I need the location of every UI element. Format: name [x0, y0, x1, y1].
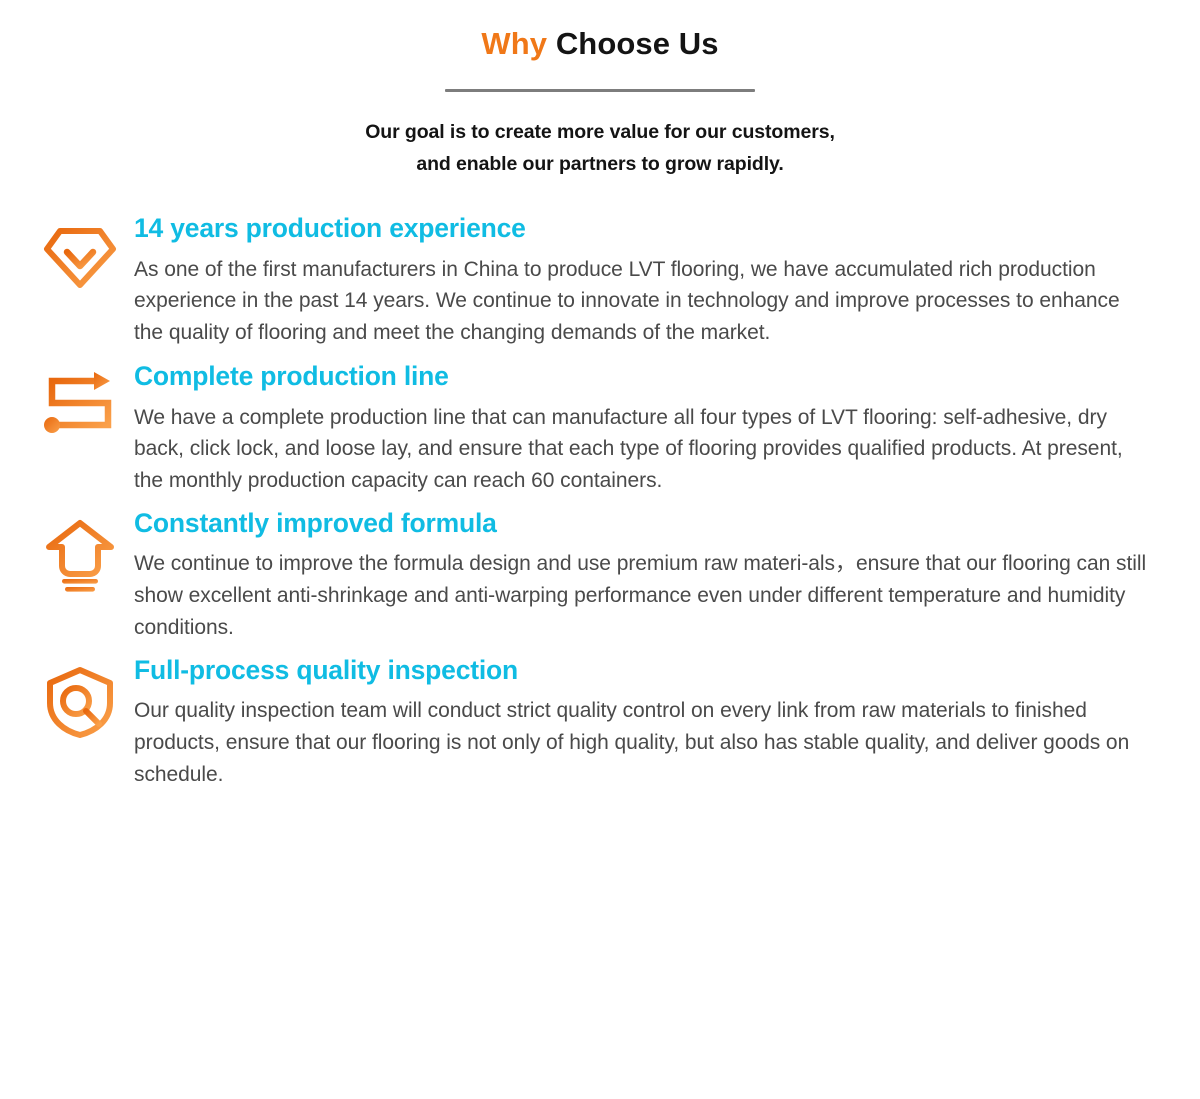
page-title-accent-word: Why [481, 26, 547, 61]
shield-magnifier-icon [26, 655, 134, 741]
feature-item: Full-process quality inspection Our qual… [26, 655, 1178, 791]
feature-item: Complete production line We have a compl… [26, 361, 1178, 497]
feature-item: 14 years production experience As one of… [26, 213, 1178, 349]
feature-item: Constantly improved formula We continue … [26, 508, 1178, 644]
feature-body: Constantly improved formula We continue … [134, 508, 1178, 644]
feature-text: We have a complete production line that … [134, 402, 1152, 498]
section-header: Why Choose Us Our goal is to create more… [0, 0, 1200, 180]
production-line-arrow-icon [26, 361, 134, 439]
feature-title: Full-process quality inspection [134, 655, 1152, 686]
feature-body: Full-process quality inspection Our qual… [134, 655, 1178, 791]
subtitle-line-2: and enable our partners to grow rapidly. [0, 149, 1200, 181]
subtitle-line-1: Our goal is to create more value for our… [0, 117, 1200, 149]
feature-body: 14 years production experience As one of… [134, 213, 1178, 349]
feature-text: We continue to improve the formula desig… [134, 548, 1152, 644]
feature-text: Our quality inspection team will conduct… [134, 695, 1152, 791]
feature-body: Complete production line We have a compl… [134, 361, 1178, 497]
upward-arrow-improvement-icon [26, 508, 134, 596]
feature-title: Constantly improved formula [134, 508, 1152, 539]
feature-text: As one of the first manufacturers in Chi… [134, 254, 1152, 350]
diamond-check-icon [26, 213, 134, 293]
title-divider [445, 89, 755, 92]
feature-title: Complete production line [134, 361, 1152, 392]
feature-title: 14 years production experience [134, 213, 1152, 244]
page-title: Why Choose Us [0, 27, 1200, 61]
why-choose-us-section: Why Choose Us Our goal is to create more… [0, 0, 1200, 1099]
section-subtitle: Our goal is to create more value for our… [0, 117, 1200, 180]
page-title-rest: Choose Us [556, 26, 719, 61]
feature-list: 14 years production experience As one of… [0, 213, 1200, 791]
